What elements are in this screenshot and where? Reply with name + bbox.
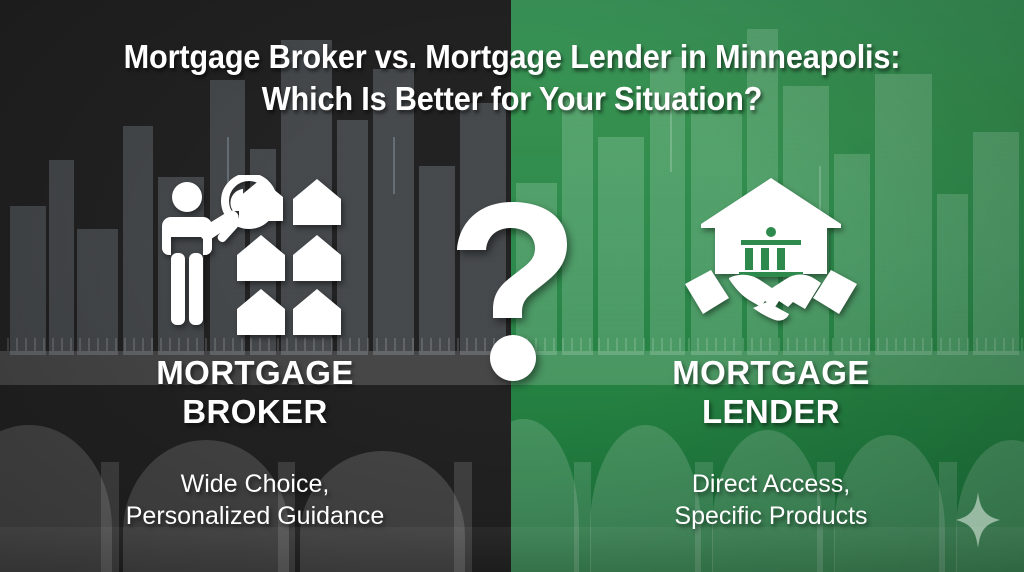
lender-title-line-1: MORTGAGE xyxy=(556,354,986,393)
lender-subtitle: Direct Access, Specific Products xyxy=(556,468,986,533)
broker-title-line-1: MORTGAGE xyxy=(40,354,470,393)
lender-title: MORTGAGE LENDER xyxy=(556,354,986,432)
lender-sub-line-1: Direct Access, xyxy=(556,468,986,501)
title-line-1: Mortgage Broker vs. Mortgage Lender in M… xyxy=(36,36,988,78)
lender-column: MORTGAGE LENDER Direct Access, Specific … xyxy=(556,170,986,533)
broker-title-line-2: BROKER xyxy=(40,393,470,432)
broker-column: MORTGAGE BROKER Wide Choice, Personalize… xyxy=(40,170,470,533)
broker-sub-line-1: Wide Choice, xyxy=(40,468,470,501)
broker-sub-line-2: Personalized Guidance xyxy=(40,500,470,533)
page-title: Mortgage Broker vs. Mortgage Lender in M… xyxy=(36,36,988,120)
lender-sub-line-2: Specific Products xyxy=(556,500,986,533)
title-line-2: Which Is Better for Your Situation? xyxy=(36,78,988,120)
lender-icon-wrap xyxy=(556,170,986,340)
broker-icon-wrap xyxy=(40,170,470,340)
broker-title: MORTGAGE BROKER xyxy=(40,354,470,432)
bank-house-handshake-icon xyxy=(683,176,859,334)
broker-subtitle: Wide Choice, Personalized Guidance xyxy=(40,468,470,533)
question-mark-icon xyxy=(457,202,567,382)
lender-title-line-2: LENDER xyxy=(556,393,986,432)
infographic-canvas: Mortgage Broker vs. Mortgage Lender in M… xyxy=(0,0,1024,572)
four-point-sparkle-icon xyxy=(956,492,1000,548)
person-with-magnifying-glass-and-houses-icon xyxy=(157,175,353,335)
